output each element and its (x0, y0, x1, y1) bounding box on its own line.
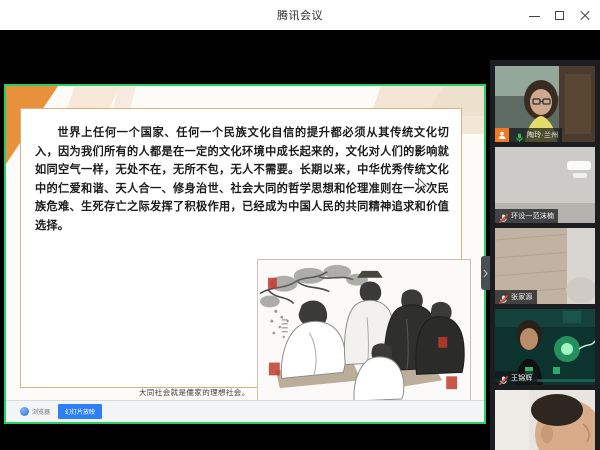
participant-namebar: 陶玲·兰州 (495, 128, 562, 142)
host-badge-icon (495, 128, 509, 142)
participant-tile[interactable]: 张家源 (495, 228, 595, 304)
mic-muted-icon (498, 373, 509, 384)
close-icon[interactable] (579, 10, 590, 21)
minimize-icon[interactable] (529, 10, 540, 21)
window-titlebar: 腾讯会议 (0, 0, 600, 30)
participant-tile[interactable]: 环设一范沫楠 (495, 147, 595, 223)
meeting-stage: 世界上任何一个国家、任何一个民族文化自信的提升都必须从其传统文化切入，因为我们所… (0, 30, 600, 450)
slide-illustration (257, 259, 471, 400)
participant-namebar: 王锦辉 (495, 371, 537, 385)
participant-name: 陶玲·兰州 (527, 130, 558, 140)
mic-on-icon (514, 130, 525, 141)
shared-screen-content: 世界上任何一个国家、任何一个民族文化自信的提升都必须从其传统文化切入，因为我们所… (6, 86, 484, 422)
maximize-icon[interactable] (554, 10, 565, 21)
participant-rail: 陶玲·兰州 环设一范沫楠 (490, 60, 600, 450)
window-title: 腾讯会议 (0, 7, 600, 23)
participant-name: 张家源 (511, 292, 533, 302)
mic-muted-icon (498, 211, 509, 222)
chevron-right-icon (483, 269, 488, 278)
taskbar-app-item[interactable]: 浏览器 (20, 407, 50, 416)
rail-collapse-handle[interactable] (481, 256, 490, 290)
tencent-meeting-window: 腾讯会议 世界上任何一个国家、任何一个民族文化自信的提升都必须从其传统文化切入，… (0, 0, 600, 450)
participant-tile[interactable]: 王锦辉 (495, 309, 595, 385)
participant-name: 环设一范沫楠 (511, 211, 554, 221)
participant-tile[interactable]: 李俊杰 (495, 390, 595, 450)
participant-video (495, 390, 595, 450)
shared-screen-region[interactable]: 世界上任何一个国家、任何一个民族文化自信的提升都必须从其传统文化切入，因为我们所… (4, 84, 486, 424)
remote-taskbar: 浏览器 幻灯片放映 (6, 400, 484, 422)
slide-image-caption: 大同社会就是儒家的理想社会。 (139, 387, 250, 398)
participant-namebar: 张家源 (495, 290, 537, 304)
taskbar-active-item[interactable]: 幻灯片放映 (58, 404, 102, 419)
participant-video-frame (495, 390, 595, 450)
presentation-slide: 世界上任何一个国家、任何一个民族文化自信的提升都必须从其传统文化切入，因为我们所… (6, 86, 484, 400)
participant-tile[interactable]: 陶玲·兰州 (495, 66, 595, 142)
mic-muted-icon (498, 292, 509, 303)
window-controls (529, 0, 590, 30)
participant-name: 王锦辉 (511, 373, 533, 383)
slide-paragraph: 世界上任何一个国家、任何一个民族文化自信的提升都必须从其传统文化切入，因为我们所… (35, 123, 449, 234)
browser-icon (20, 407, 29, 416)
participant-namebar: 环设一范沫楠 (495, 209, 558, 223)
slide-text-card: 世界上任何一个国家、任何一个民族文化自信的提升都必须从其传统文化切入，因为我们所… (20, 108, 462, 388)
taskbar-app-label: 浏览器 (32, 407, 50, 416)
